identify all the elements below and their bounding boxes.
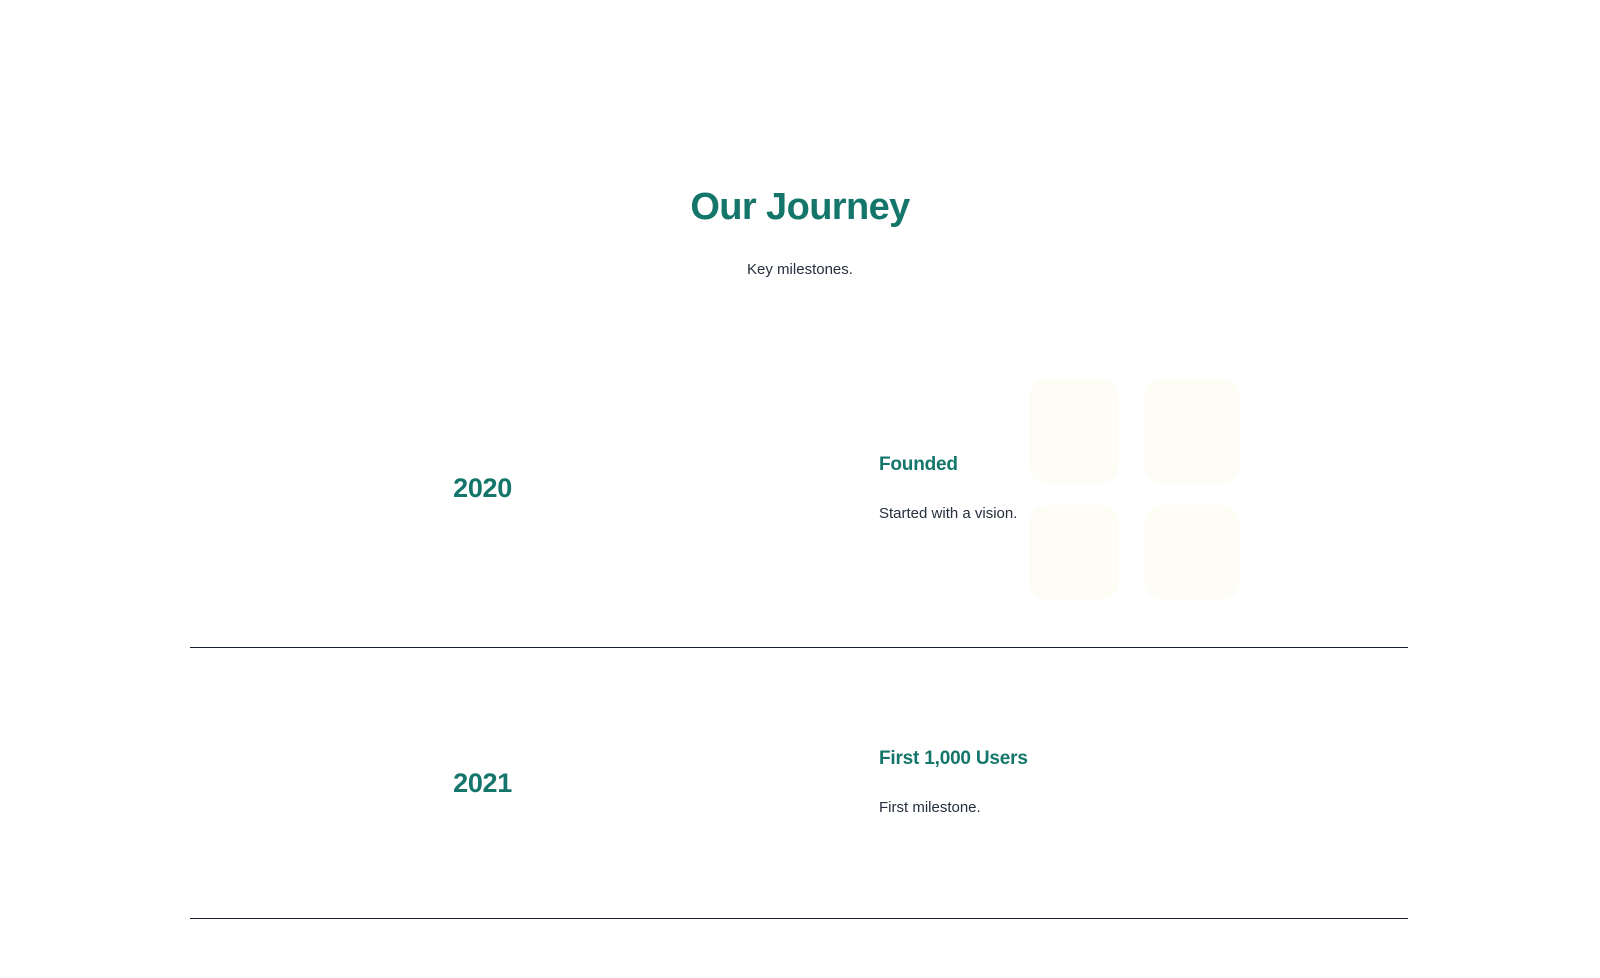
- timeline-year-label: 2021: [190, 770, 512, 797]
- timeline-row[interactable]: 2020 Founded Started with a vision.: [190, 330, 1408, 648]
- timeline-media-column: [522, 648, 847, 918]
- milestone-title: Founded: [879, 453, 1408, 477]
- page-subtitle: Key milestones.: [0, 231, 1600, 280]
- journey-page: Our Journey Key milestones. 2020 Founded…: [0, 0, 1600, 978]
- timeline-content-column: Founded Started with a vision.: [847, 453, 1408, 525]
- timeline-row[interactable]: 2021 First 1,000 Users First milestone.: [190, 648, 1408, 919]
- timeline-year-label: 2020: [190, 475, 512, 502]
- timeline-year-column: 2020: [190, 475, 522, 502]
- milestone-title: First 1,000 Users: [879, 747, 1408, 771]
- section-header: Our Journey Key milestones.: [0, 185, 1600, 280]
- timeline-media-column: [522, 330, 847, 647]
- milestone-description: First milestone.: [879, 771, 1408, 819]
- timeline-year-column: 2021: [190, 770, 522, 797]
- page-title: Our Journey: [0, 185, 1600, 231]
- timeline-list: 2020 Founded Started with a vision. 2021: [190, 330, 1408, 919]
- timeline-content-column: First 1,000 Users First milestone.: [847, 747, 1408, 819]
- milestone-description: Started with a vision.: [879, 477, 1408, 525]
